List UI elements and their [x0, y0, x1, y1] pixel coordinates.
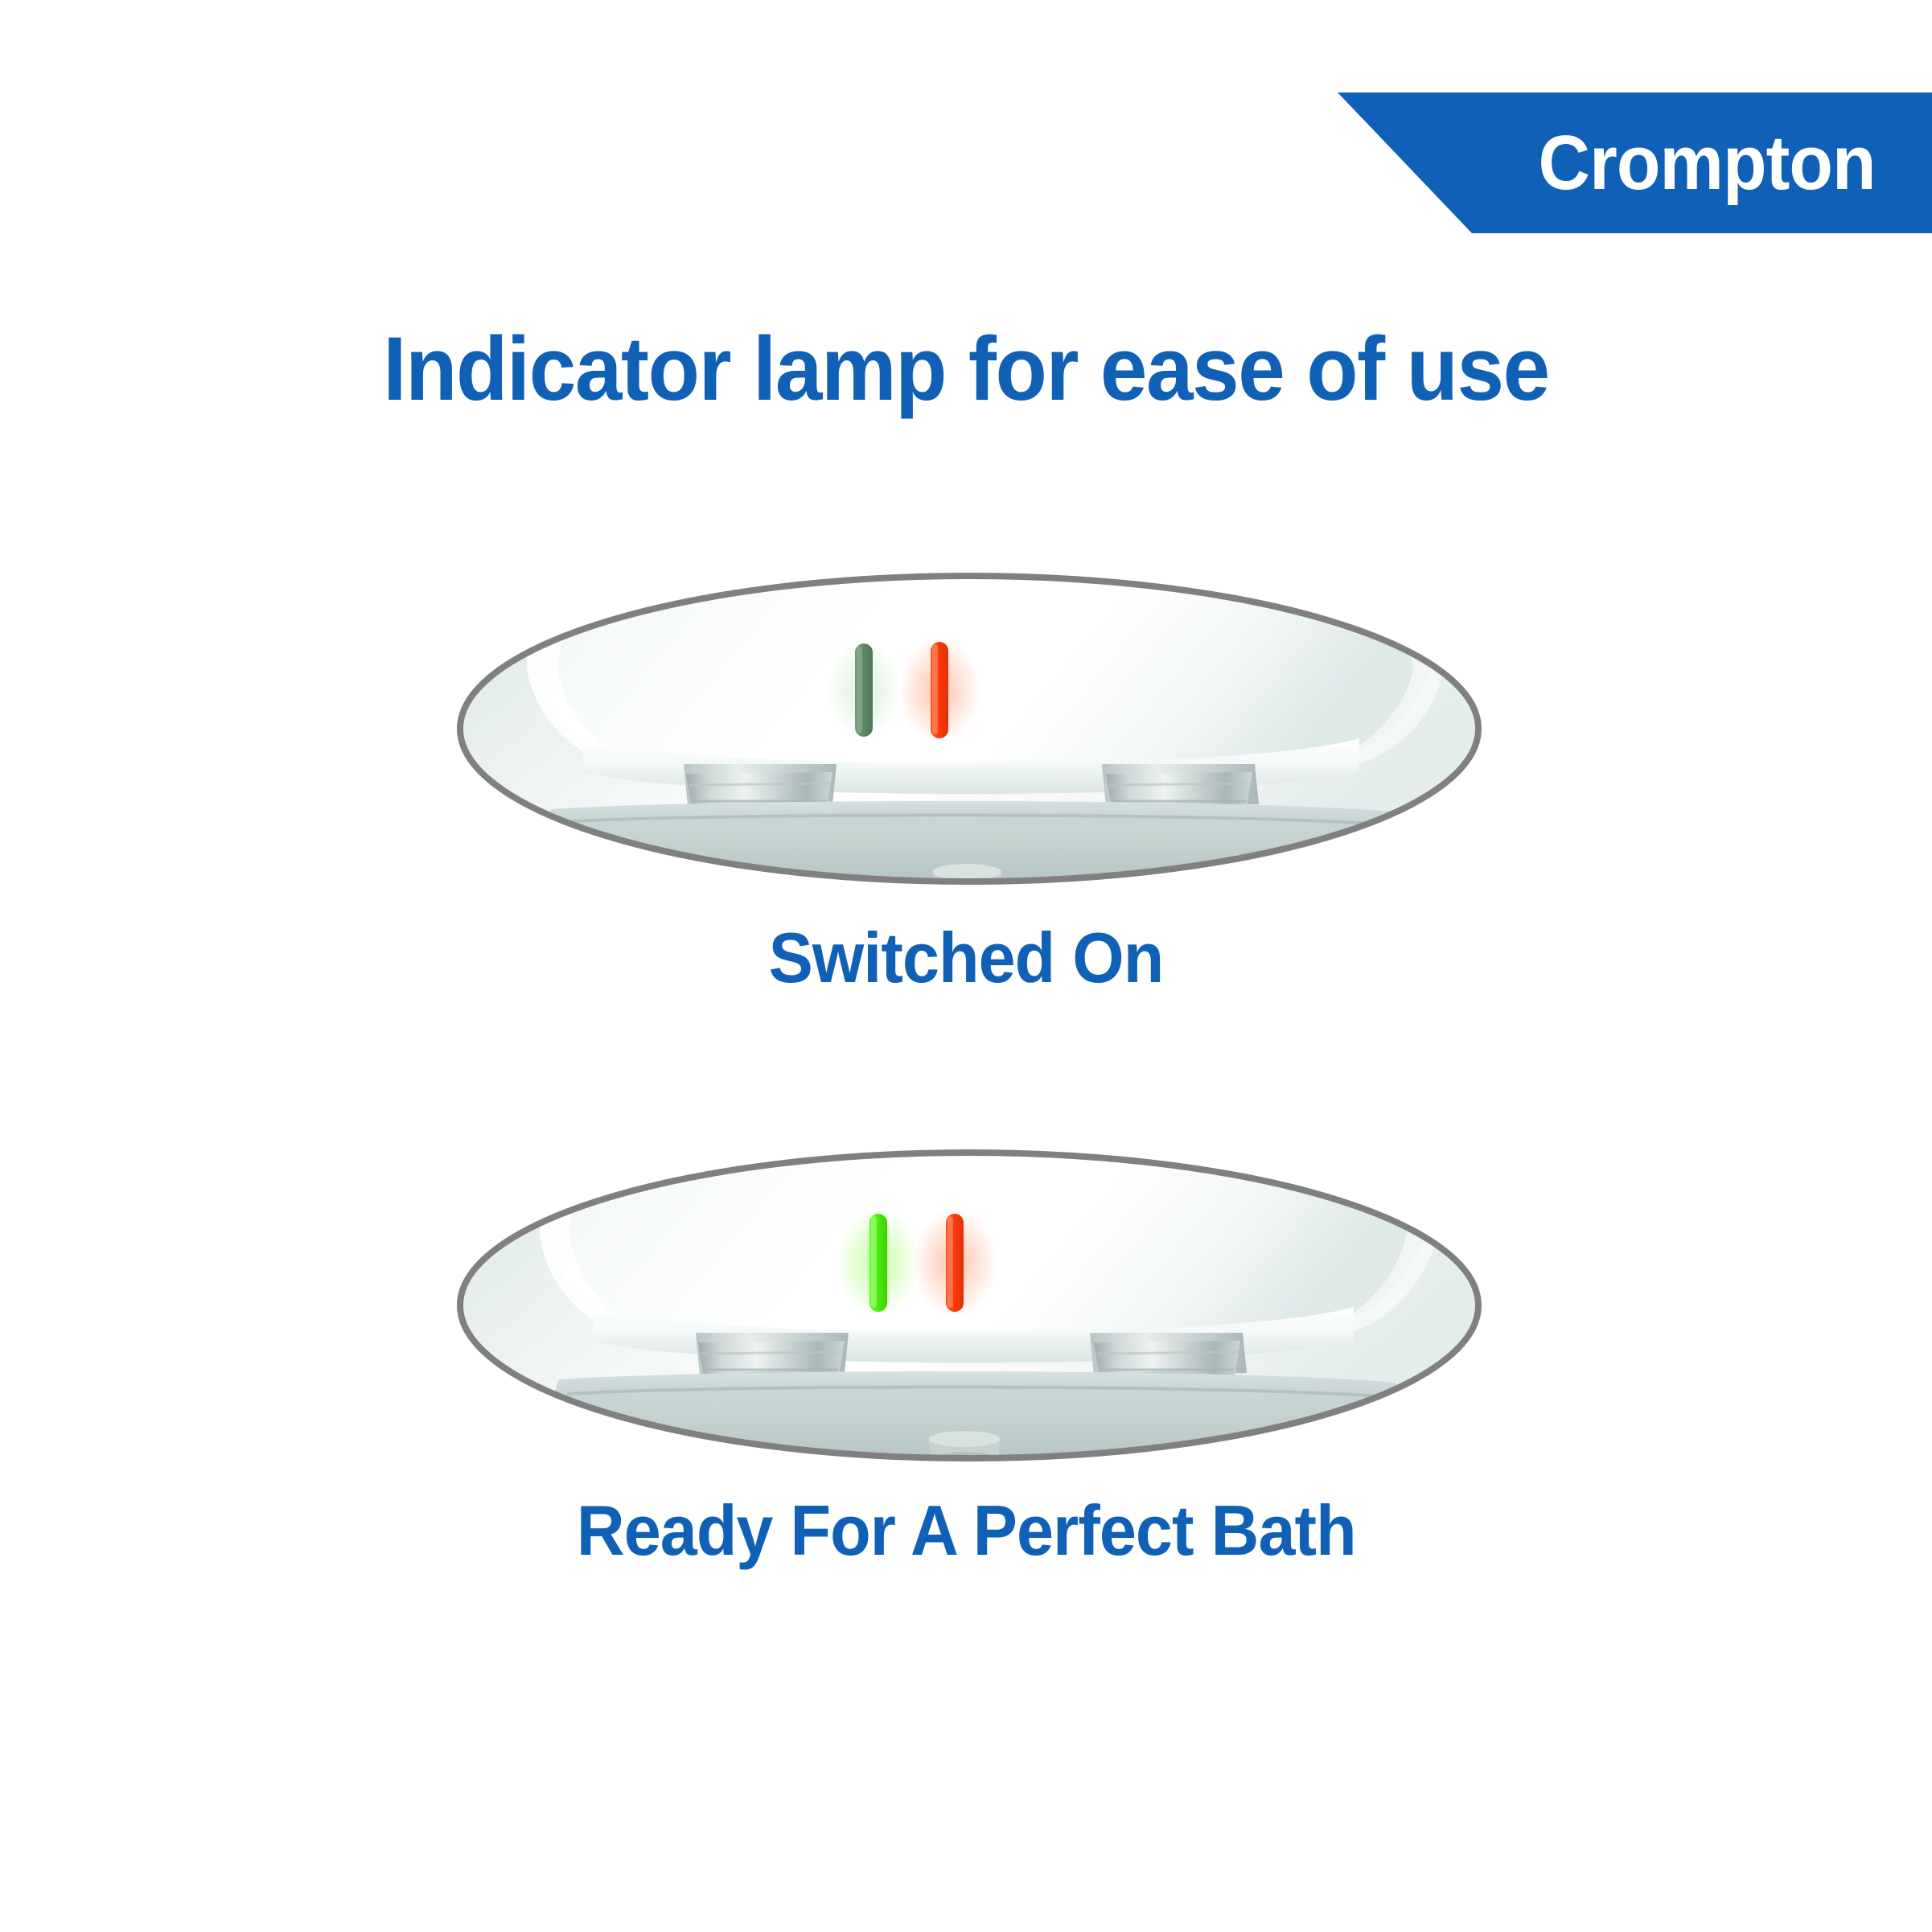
caption-switched-on-text: Switched On [769, 919, 1164, 997]
oval-frame-switched-on [454, 571, 1484, 886]
page-title-text: Indicator lamp for ease of use [383, 319, 1549, 419]
indicator-lamp-green-off [827, 640, 901, 740]
figure-ready-for-bath [454, 1148, 1484, 1463]
caption-switched-on: Switched On [0, 919, 1932, 997]
brand-banner: Crompton [1338, 92, 1932, 233]
indicator-lamp-red-on [913, 1208, 997, 1317]
indicator-lamp-red-on [899, 637, 980, 743]
brand-name: Crompton [1539, 125, 1876, 202]
page-title: Indicator lamp for ease of use [0, 319, 1932, 419]
figure-switched-on [454, 571, 1484, 886]
indicator-lamp-green-on [837, 1208, 920, 1317]
caption-ready-for-bath-text: Ready For A Perfect Bath [577, 1492, 1356, 1570]
caption-ready-for-bath: Ready For A Perfect Bath [0, 1492, 1932, 1570]
oval-frame-ready-for-bath [454, 1148, 1484, 1463]
